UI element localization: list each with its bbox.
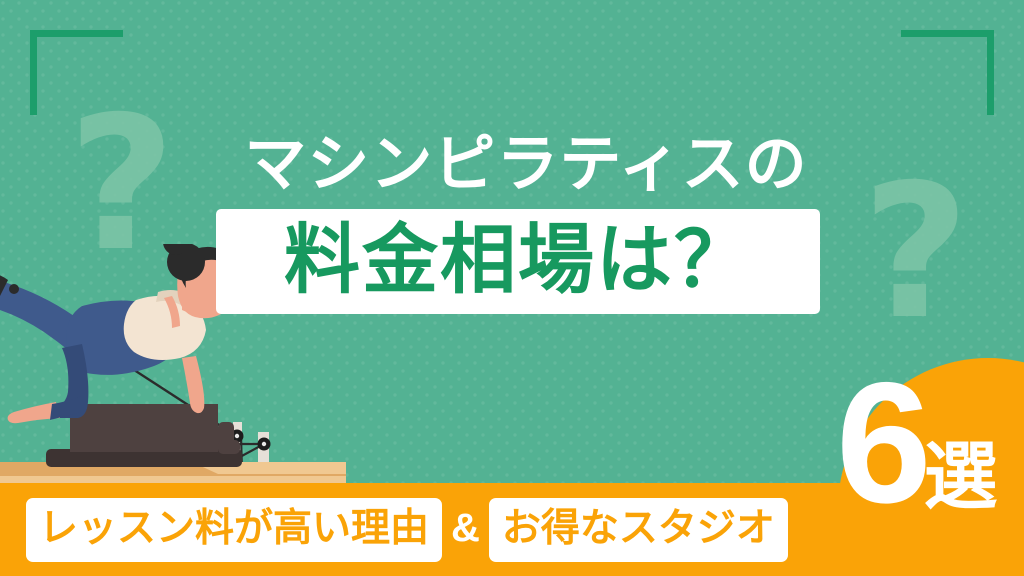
headline-block: マシンピラティスの 料金相場は？ xyxy=(206,128,846,314)
ampersand-connector: & xyxy=(451,508,480,552)
count-badge: 6 選 xyxy=(830,368,1024,518)
headline-highlight-box: 料金相場は？ xyxy=(216,209,820,314)
question-mark-decoration-right: ? xyxy=(862,160,969,345)
headline-line-1: マシンピラティスの xyxy=(206,128,846,199)
pill-lesson-price-reason: レッスン料が高い理由 xyxy=(26,498,442,562)
corner-bracket-top-right xyxy=(901,30,994,115)
badge-counter-kanji: 選 xyxy=(924,440,998,514)
poster-canvas: ? ? xyxy=(0,0,1024,576)
pill-affordable-studio: お得なスタジオ xyxy=(489,498,788,562)
badge-number: 6 xyxy=(836,370,928,518)
corner-bracket-top-left xyxy=(30,30,123,115)
headline-line-2: 料金相場は？ xyxy=(230,217,806,302)
